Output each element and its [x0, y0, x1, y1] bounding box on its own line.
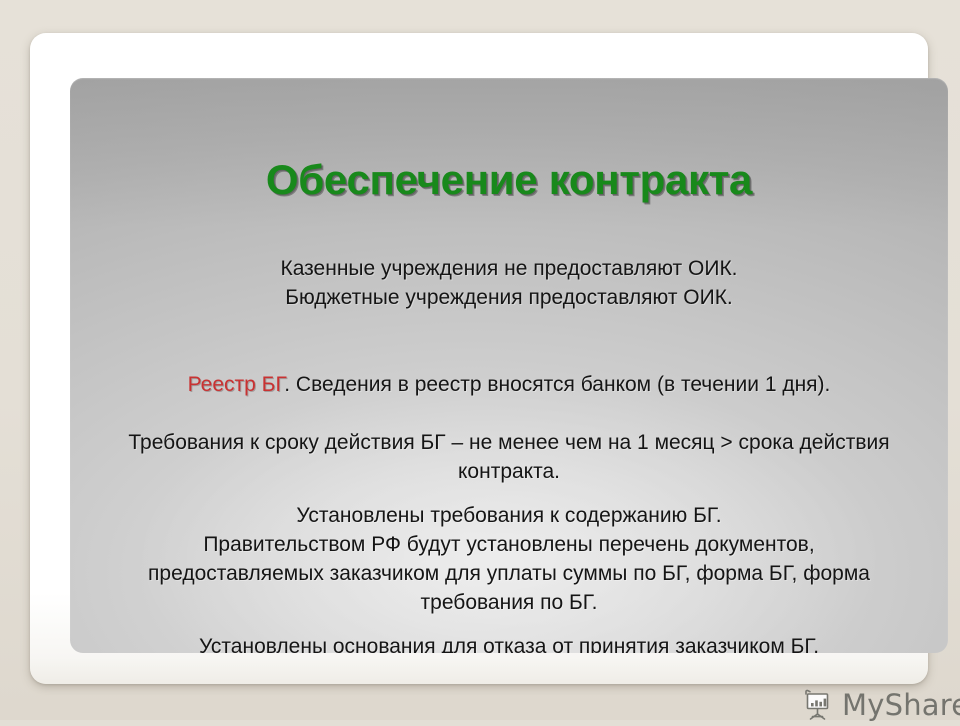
- registry-rest-text: . Сведения в реестр вносятся банком (в т…: [284, 373, 830, 396]
- paragraph-term-requirements: Требования к сроку действия БГ – не мене…: [118, 428, 900, 486]
- paragraph-registry: Реестр БГ. Сведения в реестр вносятся ба…: [118, 370, 900, 399]
- paragraph-institutions: Казенные учреждения не предоставляют ОИК…: [118, 254, 900, 312]
- paragraph-refusal-grounds: Установлены основания для отказа от прин…: [118, 632, 900, 653]
- slide-title: Обеспечение контракта: [70, 156, 948, 204]
- slide-top-sheen: [70, 78, 948, 228]
- presentation-easel-icon: [802, 688, 836, 722]
- paragraph-content-requirements: Установлены требования к содержанию БГ. …: [118, 501, 900, 617]
- page-background: Обеспечение контракта Казенные учреждени…: [0, 0, 960, 720]
- slide-card: Обеспечение контракта Казенные учреждени…: [30, 33, 928, 684]
- slide-surface: Обеспечение контракта Казенные учреждени…: [70, 78, 948, 653]
- registry-accent-label: Реестр БГ: [188, 373, 285, 396]
- myshared-label: MyShared: [842, 688, 960, 722]
